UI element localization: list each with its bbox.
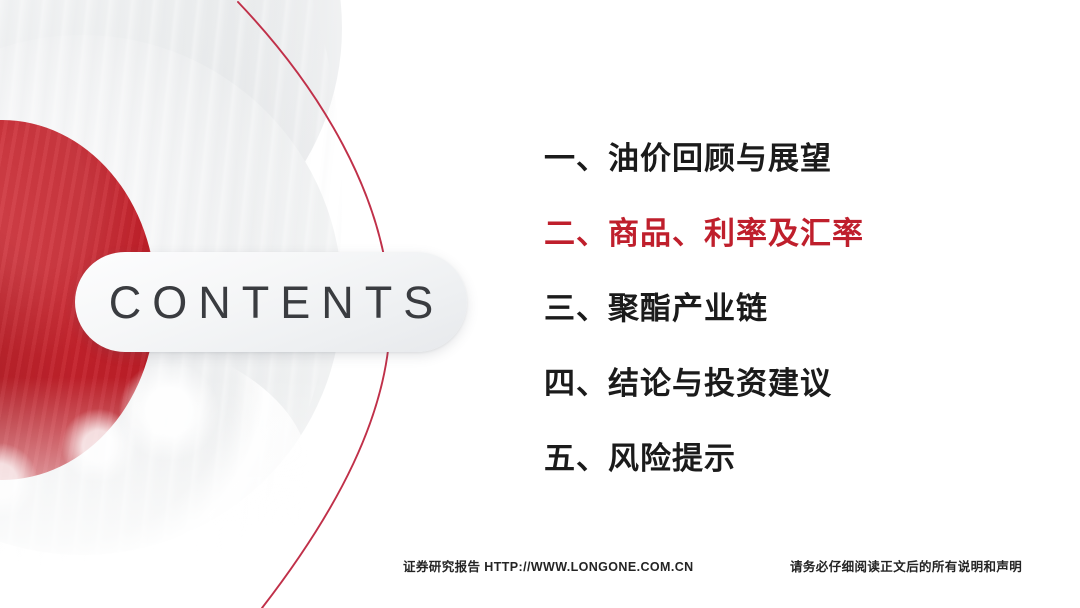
footer-disclaimer-note: 请务必仔细阅读正文后的所有说明和声明 (790, 556, 1022, 575)
slide-canvas: CONTENTS 一、油价回顾与展望 二、商品、利率及汇率 三、聚酯产业链 四、… (0, 0, 1080, 608)
toc-item-1[interactable]: 一、油价回顾与展望 (544, 122, 1044, 197)
toc-item-5[interactable]: 五、风险提示 (544, 422, 1044, 497)
footer-report-url: 证券研究报告 HTTP://WWW.LONGONE.COM.CN (403, 556, 694, 575)
toc-item-2[interactable]: 二、商品、利率及汇率 (544, 197, 1044, 272)
table-of-contents: 一、油价回顾与展望 二、商品、利率及汇率 三、聚酯产业链 四、结论与投资建议 五… (544, 122, 1044, 497)
toc-item-3[interactable]: 三、聚酯产业链 (544, 272, 1044, 347)
contents-badge-label: CONTENTS (98, 280, 445, 325)
toc-item-4[interactable]: 四、结论与投资建议 (544, 347, 1044, 422)
frost-band-shape (0, 330, 310, 608)
gray-sphere-shape (0, 0, 342, 288)
contents-badge: CONTENTS (75, 252, 467, 352)
